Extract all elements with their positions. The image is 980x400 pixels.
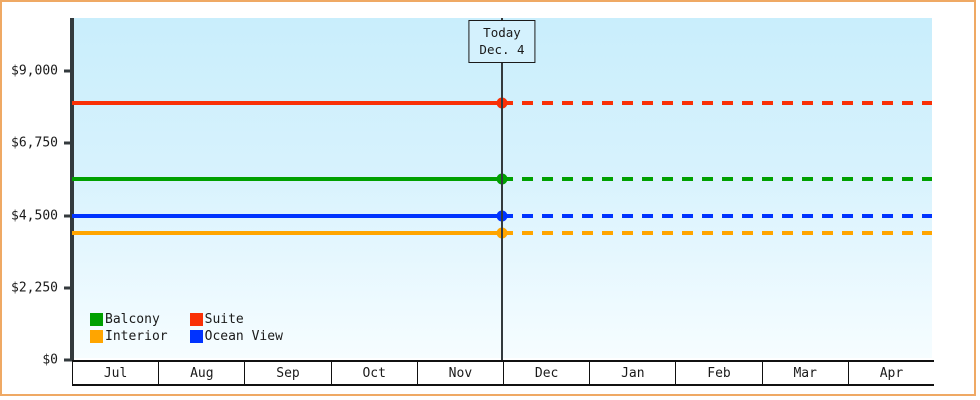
legend-item-ocean-view[interactable]: Ocean View xyxy=(190,329,283,344)
y-tick-label-0: $0 xyxy=(42,353,58,368)
price-trend-chart: $9,000 $6,750 $4,500 $2,250 $0 Today Dec… xyxy=(0,0,976,396)
x-axis-month-mar[interactable]: Mar xyxy=(763,362,849,384)
today-label: Today xyxy=(479,24,524,41)
series-line-balcony-forecast xyxy=(502,177,932,181)
series-line-balcony-actual xyxy=(72,177,502,181)
y-tick-mark-4500 xyxy=(64,215,72,218)
legend-swatch-icon-ocean-view xyxy=(190,330,203,343)
legend-label-ocean-view: Ocean View xyxy=(205,329,283,344)
today-vertical-line xyxy=(501,18,503,360)
x-axis-month-jan[interactable]: Jan xyxy=(590,362,676,384)
x-axis-month-apr[interactable]: Apr xyxy=(849,362,934,384)
y-tick-mark-0 xyxy=(64,359,72,362)
x-axis-month-row: Jul Aug Sep Oct Nov Dec Jan Feb Mar Apr xyxy=(72,360,934,386)
legend-item-suite[interactable]: Suite xyxy=(190,312,283,327)
y-tick-label-6750: $6,750 xyxy=(11,136,58,151)
y-tick-mark-9000 xyxy=(64,70,72,73)
x-axis-month-feb[interactable]: Feb xyxy=(676,362,762,384)
legend-swatch-icon-balcony xyxy=(90,313,103,326)
legend-swatch-icon-interior xyxy=(90,330,103,343)
legend-item-interior[interactable]: Interior xyxy=(90,329,168,344)
y-tick-mark-2250 xyxy=(64,287,72,290)
series-line-interior-forecast xyxy=(502,231,932,235)
legend-label-interior: Interior xyxy=(105,329,168,344)
legend-label-suite: Suite xyxy=(205,312,244,327)
y-tick-label-4500: $4,500 xyxy=(11,209,58,224)
series-line-suite-actual xyxy=(72,101,502,105)
chart-legend: Balcony Suite Interior Ocean View xyxy=(90,312,283,344)
legend-item-balcony[interactable]: Balcony xyxy=(90,312,168,327)
x-axis-month-dec[interactable]: Dec xyxy=(504,362,590,384)
y-tick-mark-6750 xyxy=(64,142,72,145)
x-axis-month-oct[interactable]: Oct xyxy=(332,362,418,384)
series-line-suite-forecast xyxy=(502,101,932,105)
series-line-interior-actual xyxy=(72,231,502,235)
y-tick-label-2250: $2,250 xyxy=(11,281,58,296)
today-date: Dec. 4 xyxy=(479,41,524,58)
x-axis-month-sep[interactable]: Sep xyxy=(245,362,331,384)
series-line-ocean-view-forecast xyxy=(502,214,932,218)
legend-swatch-icon-suite xyxy=(190,313,203,326)
y-tick-label-9000: $9,000 xyxy=(11,64,58,79)
today-annotation-box: Today Dec. 4 xyxy=(468,20,535,63)
series-line-ocean-view-actual xyxy=(72,214,502,218)
legend-label-balcony: Balcony xyxy=(105,312,160,327)
x-axis-month-aug[interactable]: Aug xyxy=(159,362,245,384)
x-axis-month-jul[interactable]: Jul xyxy=(72,362,159,384)
x-axis-month-nov[interactable]: Nov xyxy=(418,362,504,384)
